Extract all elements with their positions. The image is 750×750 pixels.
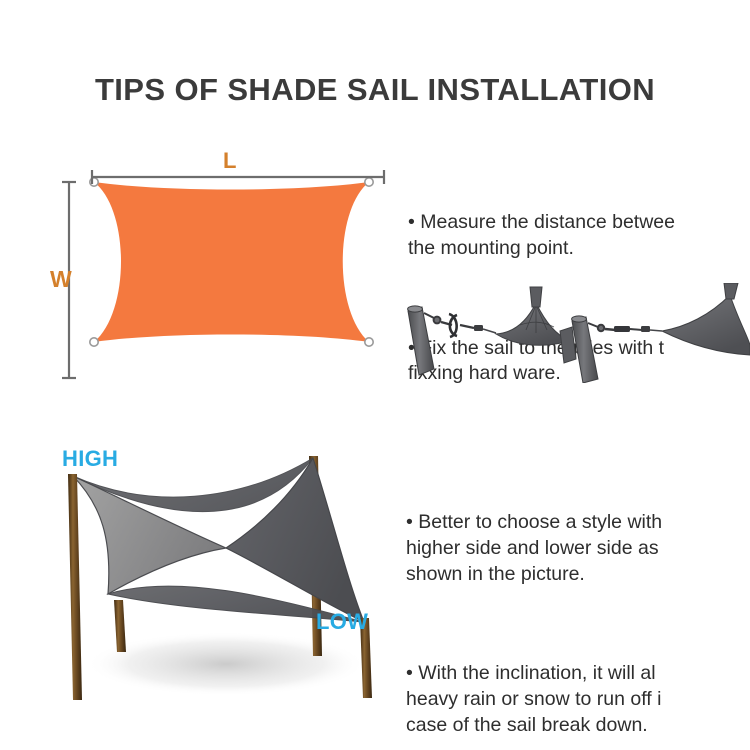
length-dimension-line [88,168,388,186]
tip-measure-line1: • Measure the distance betwee [408,211,675,233]
hardware-assembly-right [572,283,750,383]
strap-top-right [724,283,738,299]
length-label: L [223,150,236,172]
snap-hook-right [588,323,604,331]
sail-body [94,182,369,342]
width-label: W [50,268,72,291]
turnbuckle-right [605,326,650,332]
tip-incl-line1: • With the inclination, it will al [406,662,656,684]
sail-panel-light [73,476,226,594]
post-front-middle [114,600,126,652]
tip-measure: • Measure the distance betwee the mounti… [408,210,750,262]
infographic-page: TIPS OF SHADE SAIL INSTALLATION L W • Me… [0,0,750,750]
inclined-sail-scene [30,432,410,722]
tips-bottom-text: • Better to choose a style with higher s… [406,458,750,750]
snap-hook-left [424,313,440,323]
cable-left [483,329,496,333]
install-scene-svg [30,432,410,722]
low-corner-label: LOW [316,611,368,633]
sail-corner-plate-right [662,283,750,355]
sail-corner-plate-left [496,287,576,363]
tip-style-line1: • Better to choose a style with [406,511,662,533]
tip-inclination: • With the inclination, it will al heavy… [406,661,750,739]
tip-style-line2: higher side and lower side as [406,537,659,559]
hardware-assembly-left [408,287,576,375]
hardware-illustrations [400,283,750,383]
tip-measure-line2: the mounting point. [408,237,574,259]
high-corner-label: HIGH [62,448,118,470]
page-title: TIPS OF SHADE SAIL INSTALLATION [0,72,750,108]
hardware-svg [400,283,750,383]
turnbuckle-left [441,314,483,337]
tip-style-line3: shown in the picture. [406,563,585,585]
post-front-left [68,474,82,700]
ground-shadow [86,632,366,696]
strap-top-left [530,287,542,307]
tip-incl-line2: heavy rain or snow to run off i [406,688,661,710]
tip-incl-line3: case of the sail break down. [406,714,648,736]
tip-style-choice: • Better to choose a style with higher s… [406,510,750,588]
grommet-bottom-left [90,338,98,346]
cable-right [650,330,662,331]
grommet-bottom-right [365,338,373,346]
